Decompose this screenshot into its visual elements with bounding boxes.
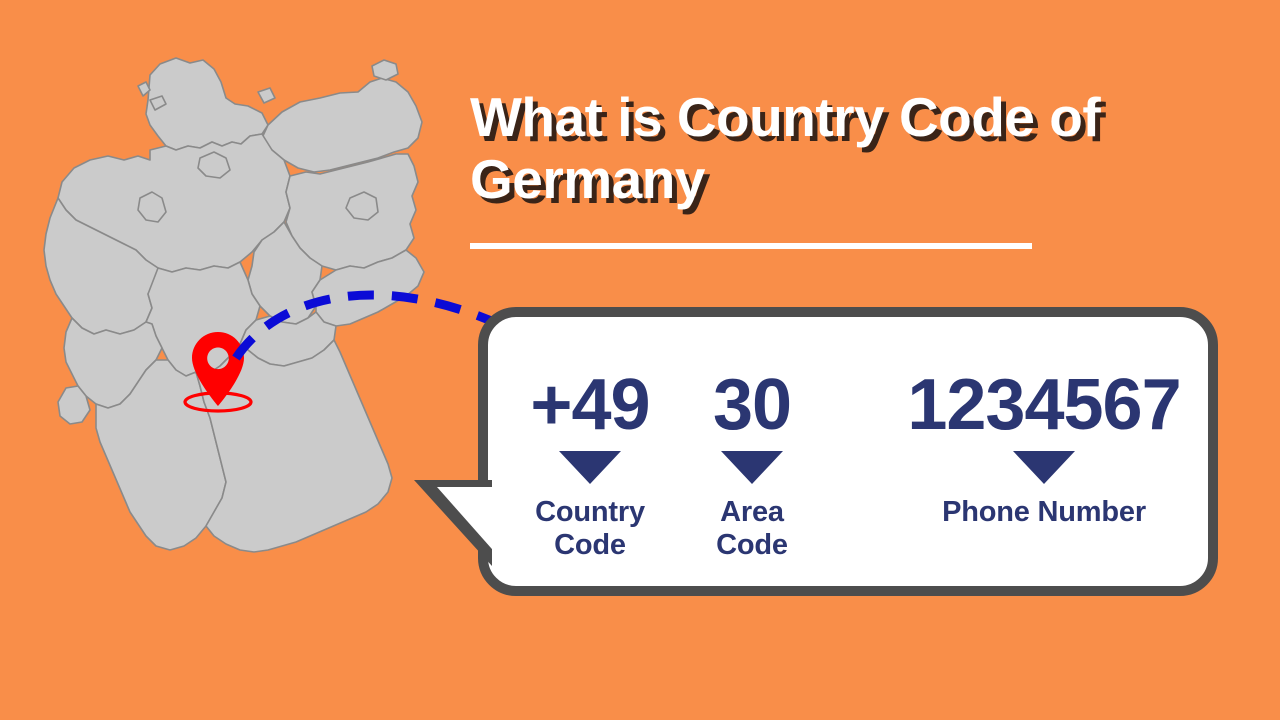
phone-number-label: Phone Number — [942, 496, 1146, 529]
country-code-label: Country Code — [535, 496, 645, 562]
area-code-label: Area Code — [716, 496, 788, 562]
infographic-canvas: What is Country Code of Germany +49 Coun… — [0, 0, 1280, 720]
segment-country-code: +49 Country Code — [510, 369, 670, 562]
title-underline-rule — [470, 243, 1032, 249]
state-mv-island-ruegen — [372, 60, 398, 80]
area-code-value: 30 — [713, 369, 791, 441]
speech-bubble-tail-fill — [437, 487, 499, 557]
title-block: What is Country Code of Germany — [470, 86, 1230, 210]
triangle-down-icon — [1013, 451, 1075, 484]
segment-area-code: 30 Area Code — [692, 369, 812, 562]
map-pin-icon — [170, 320, 270, 420]
phone-number-value: 1234567 — [907, 369, 1180, 441]
triangle-down-icon — [559, 451, 621, 484]
state-sh-island-c — [258, 88, 275, 103]
map-pin-marker — [170, 320, 270, 420]
page-title: What is Country Code of Germany — [470, 86, 1230, 210]
map-states-group — [44, 58, 424, 552]
segment-phone-number: 1234567 Phone Number — [884, 369, 1204, 529]
country-code-value: +49 — [530, 369, 649, 441]
triangle-down-icon — [721, 451, 783, 484]
